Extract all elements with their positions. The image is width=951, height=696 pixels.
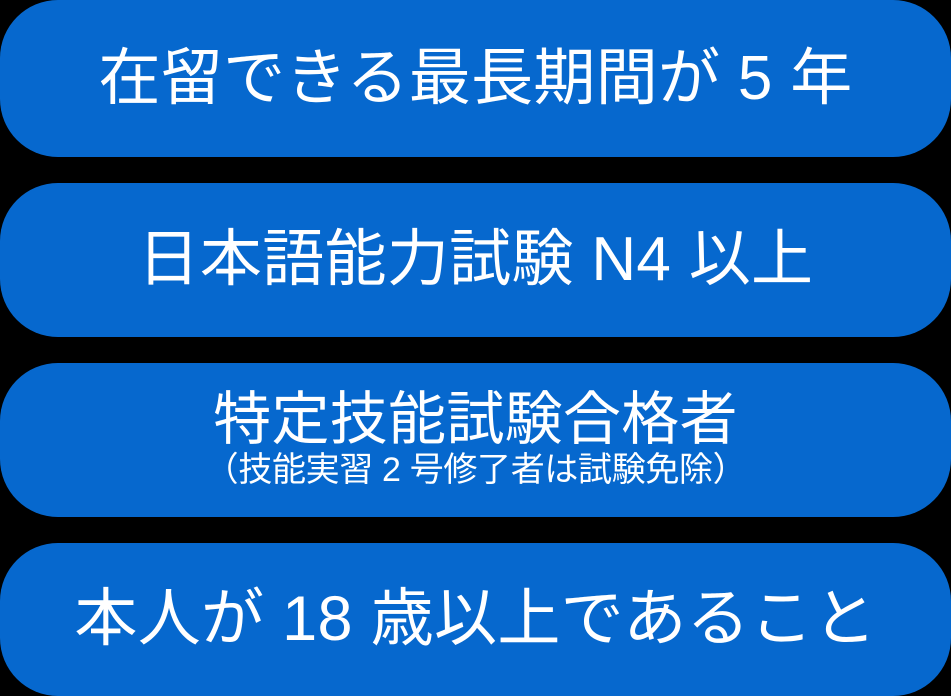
banner-primary-text: 特定技能試験合格者 <box>213 391 738 449</box>
banner-primary-text: 日本語能力試験 N4 以上 <box>138 227 814 292</box>
requirement-banner-skills-exam-pass: 特定技能試験合格者 （技能実習 2 号修了者は試験免除） <box>0 363 951 517</box>
requirement-banner-japanese-language-test: 日本語能力試験 N4 以上 <box>0 183 951 337</box>
requirement-board: 在留できる最長期間が 5 年 日本語能力試験 N4 以上 特定技能試験合格者 （… <box>0 0 951 696</box>
requirement-banner-residence-period: 在留できる最長期間が 5 年 <box>0 0 951 157</box>
requirement-banner-minimum-age: 本人が 18 歳以上であること <box>0 543 951 696</box>
banner-primary-text: 在留できる最長期間が 5 年 <box>98 46 852 111</box>
banner-secondary-text: （技能実習 2 号修了者は試験免除） <box>205 453 747 489</box>
banner-primary-text: 本人が 18 歳以上であること <box>74 586 876 652</box>
